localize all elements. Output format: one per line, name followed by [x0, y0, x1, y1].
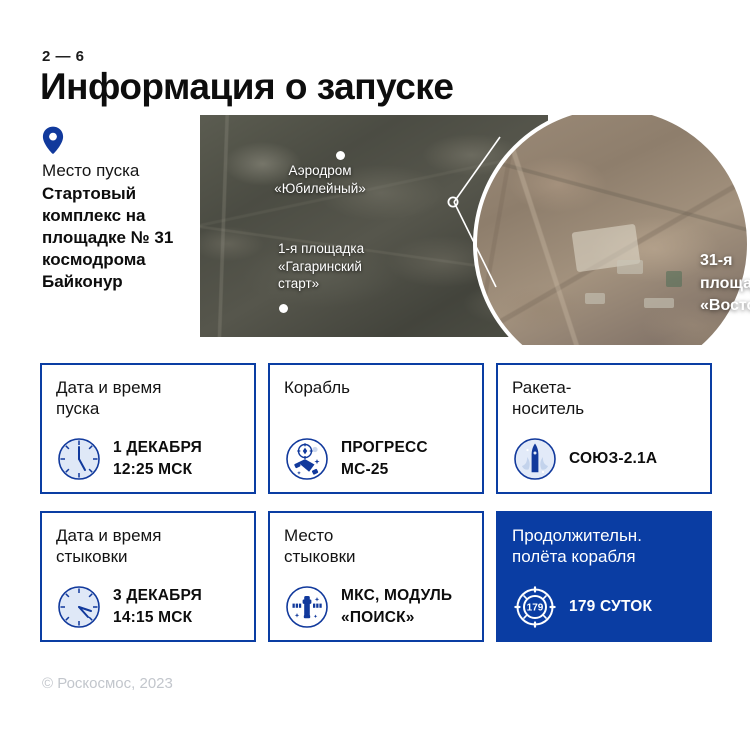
- map-pin-icon: [42, 126, 64, 154]
- card-body: 179 179 СУТОК: [512, 584, 696, 630]
- duration-badge-number: 179: [527, 603, 544, 614]
- card-launch-datetime[interactable]: Дата и время пуска 1 ДЕКАБРЯ 12:25 МСК: [40, 363, 256, 494]
- iss-module-icon: [284, 584, 330, 630]
- satellite-map[interactable]: Аэродром «Юбилейный» 1-я площадка «Гагар…: [200, 115, 750, 345]
- card-value: ПРОГРЕСС МС-25: [341, 437, 428, 481]
- clock-icon: [56, 436, 102, 482]
- infographic-page: 2 — 6 Информация о запуске Место пуска С…: [0, 0, 750, 750]
- map-marker-pad1: [279, 304, 288, 313]
- building-shape: [617, 260, 643, 274]
- card-value: МКС, МОДУЛЬ «ПОИСК»: [341, 585, 452, 629]
- launch-site-value: Стартовый комплекс на площадке № 31 косм…: [42, 183, 192, 293]
- card-body: 3 ДЕКАБРЯ 14:15 МСК: [56, 584, 240, 630]
- launch-site-label: Место пуска: [42, 160, 192, 182]
- building-shape: [644, 298, 674, 308]
- info-cards-grid: Дата и время пуска 1 ДЕКАБРЯ 12:25 МСК: [40, 363, 712, 642]
- card-spacecraft[interactable]: Корабль ПРОГРЕСС МС-25: [268, 363, 484, 494]
- card-body: ПРОГРЕСС МС-25: [284, 436, 468, 482]
- card-flight-duration[interactable]: Продолжительн. полёта корабля: [496, 511, 712, 642]
- card-value: 3 ДЕКАБРЯ 14:15 МСК: [113, 585, 202, 629]
- card-body: 1 ДЕКАБРЯ 12:25 МСК: [56, 436, 240, 482]
- card-docking-datetime[interactable]: Дата и время стыковки 3 ДЕКАБРЯ 14:15 МС…: [40, 511, 256, 642]
- card-title: Продолжительн. полёта корабля: [512, 525, 696, 567]
- card-launch-vehicle[interactable]: Ракета- носитель СОЮЗ-2.1А: [496, 363, 712, 494]
- card-title: Дата и время стыковки: [56, 525, 240, 567]
- map-marker-airfield: [336, 151, 345, 160]
- rocket-icon: [512, 436, 558, 482]
- spacecraft-icon: [284, 436, 330, 482]
- card-body: СОЮЗ-2.1А: [512, 436, 696, 482]
- copyright-footer: © Роскосмос, 2023: [42, 675, 173, 692]
- clock-icon: [56, 584, 102, 630]
- card-title: Место стыковки: [284, 525, 468, 567]
- map-label-pad31: 31-я площадка «Восток»: [700, 250, 750, 318]
- slide-counter: 2 — 6: [42, 48, 85, 65]
- card-value: 1 ДЕКАБРЯ 12:25 МСК: [113, 437, 202, 481]
- building-shape: [666, 271, 682, 287]
- map-label-pad1: 1-я площадка «Гагаринский старт»: [278, 240, 428, 293]
- card-title: Дата и время пуска: [56, 377, 240, 419]
- building-shape: [585, 293, 605, 304]
- page-title: Информация о запуске: [40, 66, 453, 108]
- card-title: Ракета- носитель: [512, 377, 696, 419]
- card-value: 179 СУТОК: [569, 596, 652, 618]
- launch-site-block: Место пуска Стартовый комплекс на площад…: [42, 126, 192, 293]
- map-label-airfield: Аэродром «Юбилейный»: [250, 162, 390, 197]
- duration-badge-icon: 179: [512, 584, 558, 630]
- card-docking-port[interactable]: Место стыковки: [268, 511, 484, 642]
- card-value: СОЮЗ-2.1А: [569, 448, 657, 470]
- card-body: МКС, МОДУЛЬ «ПОИСК»: [284, 584, 468, 630]
- card-title: Корабль: [284, 377, 468, 398]
